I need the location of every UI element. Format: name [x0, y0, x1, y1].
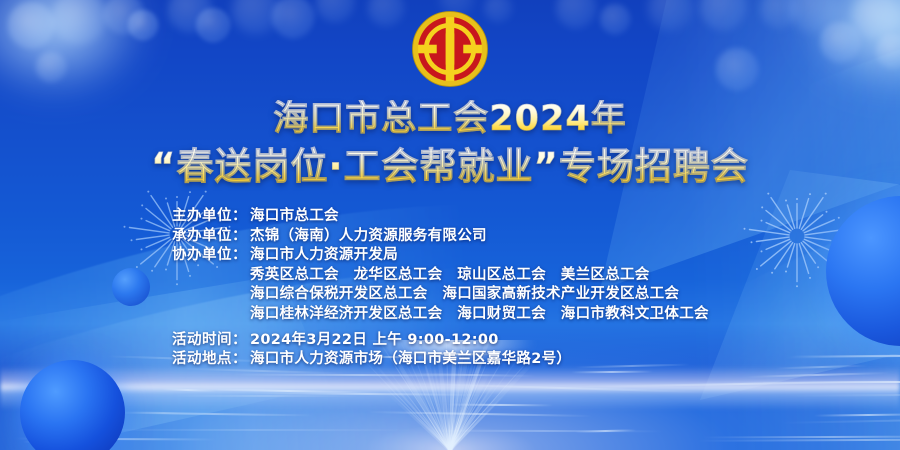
bokeh-circle [700, 0, 746, 30]
info-row: 主办单位：海口综合保税开发区总工会 海口国家高新技术产业开发区总工会 [0, 285, 900, 305]
bokeh-circle [760, 0, 798, 28]
bokeh-circle [232, 0, 280, 34]
info-value: 杰锦（海南）人力资源服务有限公司 [250, 227, 728, 247]
light-streak [703, 435, 900, 438]
light-streak [698, 438, 900, 441]
bokeh-circle [716, 48, 758, 90]
info-row: 承办单位：杰锦（海南）人力资源服务有限公司 [0, 227, 900, 247]
light-streak [112, 412, 314, 417]
light-streak [174, 395, 358, 397]
info-row-inner: 活动地点：海口市人力资源市场（海口市美兰区嘉华路2号） [172, 350, 728, 370]
bokeh-circle [648, 0, 692, 30]
title-line-1: 海口市总工会2024年 [0, 100, 900, 139]
poster-title-block: 海口市总工会2024年 “春送岗位·工会帮就业”专场招聘会 [0, 100, 900, 188]
info-row: 主办单位：海口桂林洋经济开发区总工会 海口财贸工会 海口市教科文卫体工会 [0, 305, 900, 325]
info-label: 活动时间： [172, 331, 250, 351]
info-row: 活动地点：海口市人力资源市场（海口市美兰区嘉华路2号） [0, 350, 900, 370]
bokeh-circle [556, 0, 596, 28]
info-value: 海口综合保税开发区总工会 海口国家高新技术产业开发区总工会 [250, 285, 728, 305]
light-streak [571, 370, 653, 373]
info-row-inner: 主办单位：海口桂林洋经济开发区总工会 海口财贸工会 海口市教科文卫体工会 [172, 305, 728, 325]
info-label: 承办单位： [172, 227, 250, 247]
bokeh-circle [168, 0, 212, 32]
union-emblem-icon [411, 10, 489, 88]
corner-glow-right [800, 0, 900, 95]
info-label: 协办单位： [172, 246, 250, 266]
bokeh-circle [316, 0, 354, 22]
light-streak [789, 394, 900, 398]
info-label: 主办单位： [172, 207, 250, 227]
light-streak [422, 429, 664, 432]
info-label: 活动地点： [172, 350, 250, 370]
info-row-inner: 承办单位：杰锦（海南）人力资源服务有限公司 [172, 227, 728, 247]
bokeh-circle [600, 4, 630, 34]
event-info-block: 主办单位：海口市总工会承办单位：杰锦（海南）人力资源服务有限公司协办单位：海口市… [0, 207, 900, 370]
recruitment-poster: 海口市总工会2024年 “春送岗位·工会帮就业”专场招聘会 主办单位：海口市总工… [0, 0, 900, 450]
info-value: 海口市总工会 [250, 207, 728, 227]
info-value: 海口市人力资源市场（海口市美兰区嘉华路2号） [250, 350, 728, 370]
info-value: 秀英区总工会 龙华区总工会 琼山区总工会 美兰区总工会 [250, 266, 728, 286]
info-value: 海口市人力资源开发局 [250, 246, 728, 266]
info-value: 海口桂林洋经济开发区总工会 海口财贸工会 海口市教科文卫体工会 [250, 305, 728, 325]
light-streak [88, 429, 420, 431]
title-line-2: “春送岗位·工会帮就业”专场招聘会 [0, 146, 900, 187]
light-streak [814, 413, 900, 416]
info-row-inner: 活动时间：2024年3月22日 上午 9:00-12:00 [172, 331, 728, 351]
light-streak [781, 416, 900, 424]
acftu-union-emblem [411, 10, 489, 88]
info-row: 活动时间：2024年3月22日 上午 9:00-12:00 [0, 331, 900, 351]
info-row-inner: 主办单位：秀英区总工会 龙华区总工会 琼山区总工会 美兰区总工会 [172, 266, 728, 286]
info-row-inner: 协办单位：海口市人力资源开发局 [172, 246, 728, 266]
light-streak [746, 372, 889, 378]
info-row-inner: 主办单位：海口市总工会 [172, 207, 728, 227]
info-row: 主办单位：秀英区总工会 龙华区总工会 琼山区总工会 美兰区总工会 [0, 266, 900, 286]
info-value: 2024年3月22日 上午 9:00-12:00 [250, 331, 728, 351]
info-row-inner: 主办单位：海口综合保税开发区总工会 海口国家高新技术产业开发区总工会 [172, 285, 728, 305]
info-row: 协办单位：海口市人力资源开发局 [0, 246, 900, 266]
bokeh-circle [272, 0, 314, 38]
bokeh-circle [368, 0, 404, 26]
info-row: 主办单位：海口市总工会 [0, 207, 900, 227]
light-streak [725, 380, 900, 384]
corner-glow-left [0, 0, 150, 100]
bokeh-circle [196, 8, 230, 42]
